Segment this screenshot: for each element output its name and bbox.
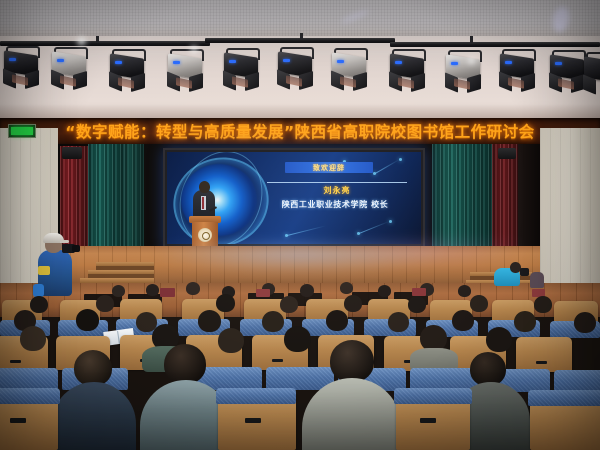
- screen-speaker-name: 刘永亮: [267, 185, 407, 196]
- auditorium-seat-cushion: [0, 388, 60, 404]
- truss-hanger: [470, 36, 473, 43]
- speaker-necktie: [202, 197, 204, 209]
- seat-number-tag: [245, 418, 261, 423]
- audience-head: [340, 282, 353, 294]
- stage-curtain-teal-right: [432, 144, 494, 258]
- light-indicator-icon: [337, 60, 344, 63]
- audience-head: [534, 296, 552, 313]
- event-banner-text: “数字赋能：转型与高质量发展”陕西省高职院校图书馆工作研讨会: [0, 120, 600, 142]
- stage-light-spill: [330, 244, 530, 266]
- auditorium-seat-cushion: [528, 390, 600, 406]
- light-indicator-icon: [173, 61, 180, 64]
- seat-number-tag: [272, 359, 283, 362]
- audience-head-foreground: [164, 344, 206, 384]
- screen-divider: [267, 182, 407, 183]
- light-indicator-icon: [555, 62, 562, 65]
- audience-head-foreground: [470, 352, 506, 386]
- light-indicator-icon: [395, 61, 402, 64]
- emergency-exit-sign: [8, 124, 36, 138]
- audience-head: [300, 284, 314, 297]
- audience-head: [458, 285, 471, 297]
- light-indicator-icon: [451, 62, 458, 65]
- seat-row-marker: [256, 289, 270, 297]
- audience-head: [198, 310, 221, 332]
- auditorium-seat-cushion: [0, 368, 58, 390]
- network-link: [375, 159, 400, 174]
- light-indicator-icon: [283, 59, 290, 62]
- seat-row-marker: [160, 288, 175, 297]
- network-link: [287, 225, 326, 236]
- light-glare: [190, 46, 198, 53]
- screen-speaker-affiliation: 陕西工业职业技术学院 校长: [251, 199, 419, 210]
- audience-head: [216, 294, 235, 312]
- event-banner: “数字赋能：转型与高质量发展”陕西省高职院校图书馆工作研讨会: [0, 118, 600, 144]
- truss-hanger: [300, 33, 303, 40]
- audience-head: [96, 295, 114, 312]
- light-indicator-icon: [505, 61, 512, 64]
- audience-head: [470, 295, 488, 312]
- audience-head: [280, 296, 298, 313]
- screen-headline-badge: 致欢迎辞: [285, 162, 373, 173]
- audience-head: [452, 310, 474, 331]
- right-side-wall: [540, 128, 600, 298]
- seat-number-tag: [10, 418, 26, 423]
- audience-head: [408, 296, 426, 313]
- stage-loudspeaker-right: [498, 148, 516, 159]
- network-link: [359, 221, 389, 234]
- audience-head: [486, 327, 512, 352]
- seat-row-marker: [412, 288, 426, 296]
- audience-head: [76, 309, 99, 331]
- stage-curtain-teal-left-inner: [124, 144, 144, 254]
- seat-number-tag: [420, 418, 436, 423]
- stage-curtain-teal-left: [88, 144, 126, 258]
- audience-head: [218, 328, 244, 353]
- audience-head: [574, 312, 596, 333]
- camera-lens-icon: [72, 245, 80, 252]
- audience-head-foreground: [330, 340, 374, 382]
- auditorium-photo: “数字赋能：转型与高质量发展”陕西省高职院校图书馆工作研讨会 致欢迎辞: [0, 0, 600, 450]
- audience-head: [186, 282, 200, 295]
- audience-head: [388, 312, 409, 332]
- truss-hanger: [96, 36, 99, 43]
- seat-number-tag: [536, 361, 547, 364]
- auditorium-seat-cushion: [394, 388, 472, 404]
- audience-head: [30, 296, 48, 313]
- audience-head: [514, 311, 536, 332]
- audience-head: [284, 326, 311, 352]
- photographer-jacket-stripe: [38, 266, 50, 275]
- staff-camera-icon: [520, 268, 529, 276]
- network-node-icon: [389, 220, 392, 223]
- light-indicator-icon: [57, 59, 64, 62]
- light-indicator-icon: [9, 58, 16, 61]
- audience-head: [326, 310, 348, 331]
- lighting-truss-right: [390, 42, 600, 47]
- audience-head: [344, 295, 362, 312]
- auditorium-seat: [516, 337, 572, 372]
- light-glare: [77, 37, 86, 45]
- audience-head: [146, 284, 159, 296]
- photographer-cap-brim: [60, 240, 69, 243]
- auditorium-seat-cushion: [216, 388, 296, 404]
- audience-head: [112, 285, 125, 297]
- light-indicator-icon: [229, 60, 236, 63]
- screen-headline-text: 致欢迎辞: [313, 163, 345, 173]
- light-indicator-icon: [115, 61, 122, 64]
- speaker-head: [199, 181, 210, 193]
- podium-emblem-inner: [202, 232, 210, 240]
- light-glare: [468, 58, 475, 64]
- stage-loudspeaker-left: [62, 147, 82, 159]
- audience-head: [378, 285, 391, 297]
- staff-person-right: [530, 272, 544, 288]
- audience-head: [262, 311, 284, 332]
- seat-number-tag: [10, 360, 21, 363]
- audience-head: [20, 326, 46, 351]
- audience-head-foreground: [74, 350, 112, 386]
